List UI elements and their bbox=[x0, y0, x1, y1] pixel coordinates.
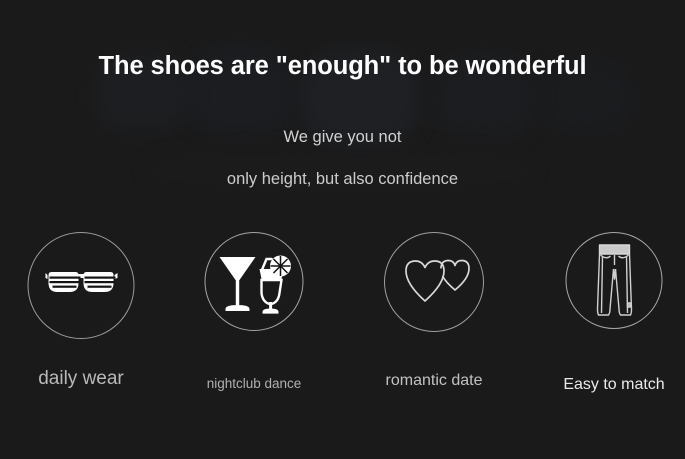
feature-item-daily-wear[interactable]: daily wear bbox=[0, 232, 167, 422]
jeans-icon bbox=[566, 232, 663, 329]
icon-circle-wrapper bbox=[28, 232, 135, 339]
icon-circle-wrapper bbox=[384, 232, 484, 332]
sunglasses-icon bbox=[28, 232, 135, 339]
feature-label: daily wear bbox=[0, 368, 167, 390]
page-title: The shoes are "enough" to be wonderful bbox=[0, 52, 685, 81]
subtitle-line-2: only height, but also confidence bbox=[0, 170, 685, 189]
feature-label: romantic date bbox=[348, 372, 520, 390]
cocktail-glasses-icon bbox=[205, 232, 304, 331]
icon-circle-wrapper bbox=[205, 232, 304, 331]
feature-item-romantic-date[interactable]: romantic date bbox=[348, 232, 520, 422]
feature-label: Easy to match bbox=[528, 376, 685, 394]
feature-item-nightclub-dance[interactable]: nightclub dance bbox=[168, 232, 340, 422]
promo-banner: The shoes are "enough" to be wonderful W… bbox=[0, 0, 685, 459]
subtitle-line-1: We give you not bbox=[0, 128, 685, 147]
feature-row: daily wear bbox=[0, 232, 685, 422]
double-heart-icon bbox=[384, 232, 484, 332]
icon-circle-wrapper bbox=[566, 232, 663, 329]
feature-item-easy-to-match[interactable]: Easy to match bbox=[528, 232, 685, 422]
feature-label: nightclub dance bbox=[168, 376, 340, 391]
